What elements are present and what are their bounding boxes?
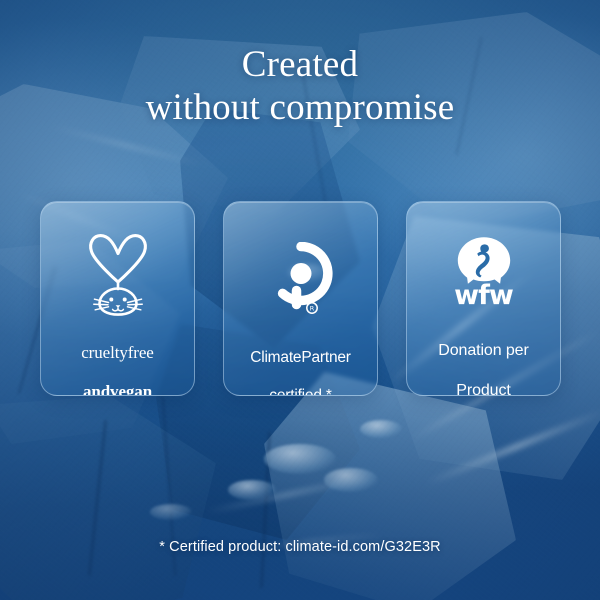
wfw-wordmark: wfw <box>454 282 513 309</box>
welthungerhilfe-figure-icon <box>455 236 513 286</box>
certification-footnote: * Certified product: climate-id.com/G32E… <box>0 539 600 555</box>
badge-caption-line2: certified * <box>250 387 351 396</box>
badge-caption-line1: Donation per <box>438 341 528 361</box>
certification-badge-row: crueltyfree andvegan R C <box>40 201 561 394</box>
badge-caption-line1: crueltyfree <box>81 343 154 362</box>
promo-graphic: Created without compromise <box>0 0 600 600</box>
badge-caption-line2: Product <box>438 381 528 396</box>
badge-donation-per-product[interactable]: wfw Donation per Product <box>406 201 561 396</box>
badge-caption: ClimatePartner certified * <box>250 330 351 396</box>
badge-climatepartner-certified[interactable]: R ClimatePartner certified * <box>223 201 378 396</box>
badge-caption-line2: andvegan <box>81 382 154 396</box>
bunny-heart-ears-icon <box>82 232 154 316</box>
badge-caption-line1: ClimatePartner <box>250 349 351 368</box>
badge-cruelty-free-and-vegan[interactable]: crueltyfree andvegan <box>40 201 195 396</box>
climatepartner-ring-icon: R <box>268 242 334 320</box>
svg-text:R: R <box>309 304 314 312</box>
badge-caption: crueltyfree andvegan <box>81 324 154 396</box>
wfw-logo-lockup: wfw <box>454 236 513 309</box>
page-title: Created without compromise <box>0 44 600 130</box>
badge-caption: Donation per Product <box>438 321 528 396</box>
